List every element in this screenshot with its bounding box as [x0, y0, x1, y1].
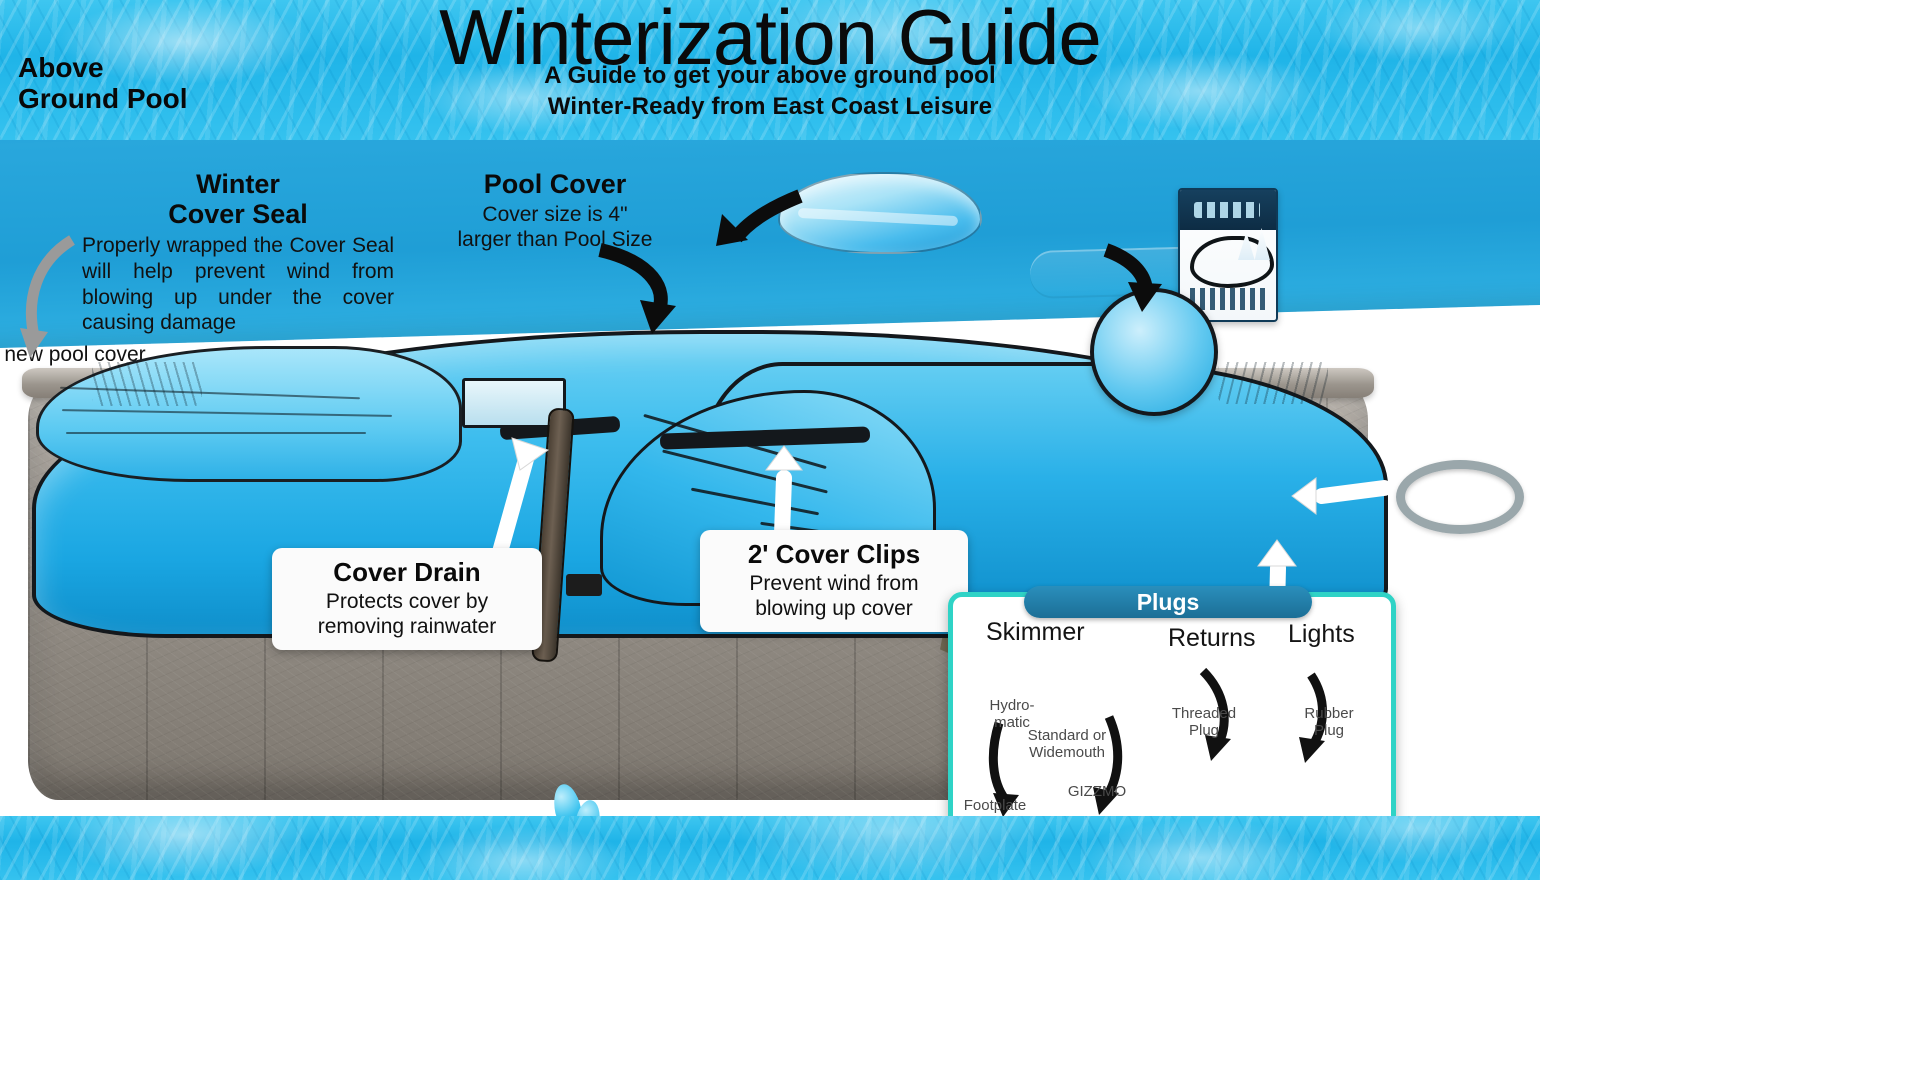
cover-clips-body-line-1: Prevent wind from: [714, 571, 954, 597]
pool-cover-body-line-2: larger than Pool Size: [440, 227, 670, 253]
cover-drain-strap: [566, 574, 602, 596]
plugs-column-heading-skimmer: Skimmer: [986, 618, 1085, 647]
plug-label-standard-widemouth: Standard or Widemouth: [1012, 728, 1122, 761]
plug-label-rubber-line-1: Rubber: [1296, 706, 1362, 723]
cover-clips-heading: 2' Cover Clips: [714, 540, 954, 569]
winter-cover-seal-heading-line-1: Winter: [82, 170, 394, 200]
winter-cover-seal-body: Properly wrapped the Cover Seal will hel…: [82, 233, 394, 335]
plugs-panel-title: Plugs: [1024, 586, 1312, 618]
cover-drain-heading: Cover Drain: [286, 558, 528, 587]
cover-clips-body: Prevent wind from blowing up cover: [714, 571, 954, 622]
plugs-column-heading-lights: Lights: [1288, 620, 1355, 649]
plug-label-threaded-plug: Threaded Plug: [1166, 706, 1242, 739]
arrowhead-lights: [1299, 737, 1325, 763]
plug-label-hydromatic-line-1: Hydro-: [982, 698, 1042, 715]
pillow-magnifier-circle: [1090, 288, 1218, 416]
chem-kit-text-bars: [1190, 288, 1266, 310]
plug-label-rubber-plug: Rubber Plug: [1296, 706, 1362, 739]
pool-cover-body-line-1: Cover size is 4": [440, 202, 670, 228]
cover-seal-pleat-right: [1218, 362, 1328, 404]
callout-cover-drain: Cover Drain Protects cover by removing r…: [272, 548, 542, 650]
pool-cover-heading: Pool Cover: [440, 170, 670, 200]
plug-label-threaded-line-2: Plug: [1166, 723, 1242, 740]
arrow-hydromatic-to-footplate: [993, 723, 1005, 799]
plug-label-footplate: Footplate: [952, 798, 1038, 815]
cover-seal-line: [66, 432, 366, 434]
infographic-canvas: Winterization Guide A Guide to get your …: [0, 0, 1540, 880]
cover-drain-body: Protects cover by removing rainwater: [286, 589, 528, 640]
plug-label-rubber-line-2: Plug: [1296, 723, 1362, 740]
winter-cover-seal-heading-line-2: Cover Seal: [82, 200, 394, 230]
cover-seal-pleat-left: [92, 362, 202, 406]
callout-winter-cover-seal: Winter Cover Seal Properly wrapped the C…: [82, 170, 394, 336]
winter-cover-seal-heading: Winter Cover Seal: [82, 170, 394, 229]
cover-clips-body-line-2: blowing up cover: [714, 596, 954, 622]
above-ground-pool-line-1: Above: [18, 52, 278, 83]
above-ground-pool-label: Above Ground Pool: [18, 52, 278, 115]
cover-cable-ring: [1396, 460, 1524, 534]
cover-drain-body-line-2: removing rainwater: [286, 614, 528, 640]
callout-cover-clips: 2' Cover Clips Prevent wind from blowing…: [700, 530, 968, 632]
plugs-column-heading-returns: Returns: [1168, 624, 1256, 653]
chem-kit-logo: [1194, 202, 1260, 218]
plug-label-gizzmo: GIZZMO: [1062, 784, 1132, 801]
above-ground-pool-line-2: Ground Pool: [18, 83, 278, 114]
callout-pool-cover: Pool Cover Cover size is 4" larger than …: [440, 170, 670, 253]
water-background-bottom: [0, 816, 1540, 880]
plug-label-standard-line-2: Widemouth: [1012, 745, 1122, 762]
pool-cover-body: Cover size is 4" larger than Pool Size: [440, 202, 670, 253]
plug-label-standard-line-1: Standard or: [1012, 728, 1122, 745]
cover-drain-body-line-1: Protects cover by: [286, 589, 528, 615]
plug-label-threaded-line-1: Threaded: [1166, 706, 1242, 723]
